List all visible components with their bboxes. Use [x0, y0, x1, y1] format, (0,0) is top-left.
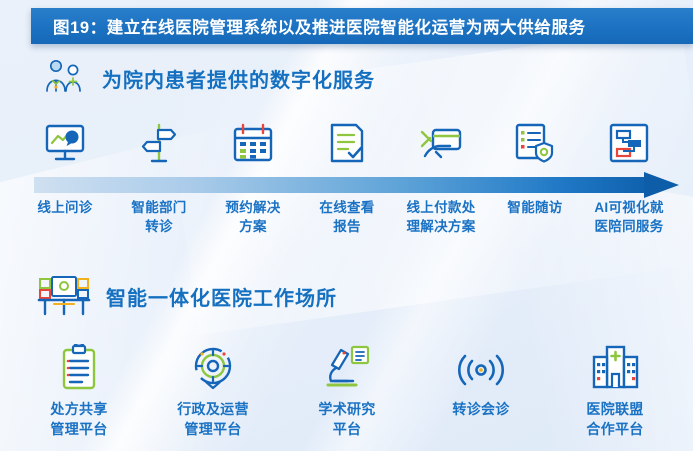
platform-item-academic-research[interactable]: 学术研究 平台 [280, 338, 414, 440]
microscope-icon [322, 338, 372, 390]
platform-item-label: 转诊会诊 [452, 400, 509, 420]
platform-item-admin-operations[interactable]: 行政及运营 管理平台 [146, 338, 280, 440]
section-heading-text: 为院内患者提供的数字化服务 [102, 64, 375, 93]
service-item-label: 在线查看 报告 [319, 198, 374, 236]
doctor-patient-icon [42, 58, 88, 99]
checklist-shield-icon [512, 112, 558, 164]
monitor-chat-icon [42, 112, 88, 164]
platform-item-referral-consult[interactable]: 转诊会诊 [414, 338, 548, 440]
slide-title-text: 图19：建立在线医院管理系统以及推进医院智能化运营为两大供给服务 [31, 14, 586, 38]
service-item-label: 线上问诊 [37, 198, 92, 217]
hospital-building-icon [590, 338, 640, 390]
service-item-label: AI可视化就 医陪同服务 [594, 198, 663, 236]
service-item-label: 智能随访 [507, 198, 562, 217]
platform-item-label: 处方共享 管理平台 [50, 400, 107, 440]
calendar-icon [230, 112, 276, 164]
arrow-head [644, 172, 679, 198]
hand-card-payment-icon [416, 112, 466, 164]
service-item-label: 预约解决 方案 [225, 198, 280, 236]
slide-canvas: 图19：建立在线医院管理系统以及推进医院智能化运营为两大供给服务 [0, 0, 693, 451]
workstation-icon [36, 272, 92, 321]
platform-item-prescription-sharing[interactable]: 处方共享 管理平台 [12, 338, 146, 440]
clipboard-icon [57, 338, 101, 390]
smart-workplace-item-row: 处方共享 管理平台 行政及运营 管理平台 [12, 338, 684, 440]
section-heading-text: 智能一体化医院工作场所 [106, 282, 337, 311]
platform-item-label: 医院联盟 合作平台 [586, 400, 643, 440]
broadcast-icon [456, 338, 506, 390]
section-header-smart-workplace: 智能一体化医院工作场所 [36, 272, 337, 321]
progress-arrow-band [34, 174, 679, 196]
service-item-label: 智能部门 转诊 [131, 198, 186, 236]
arrow-bar [34, 177, 646, 193]
service-item-label: 线上付款处 理解决方案 [407, 198, 476, 236]
flowchart-doc-icon [606, 112, 652, 164]
slide-title-bar: 图19：建立在线医院管理系统以及推进医院智能化运营为两大供给服务 [31, 8, 693, 44]
platform-item-hospital-alliance[interactable]: 医院联盟 合作平台 [548, 338, 682, 440]
platform-item-label: 学术研究 平台 [318, 400, 375, 440]
platform-item-label: 行政及运营 管理平台 [177, 400, 249, 440]
report-check-icon [324, 112, 370, 164]
signpost-icon [136, 112, 182, 164]
section-header-digital-services: 为院内患者提供的数字化服务 [42, 58, 375, 99]
gear-cycle-icon [190, 338, 236, 390]
